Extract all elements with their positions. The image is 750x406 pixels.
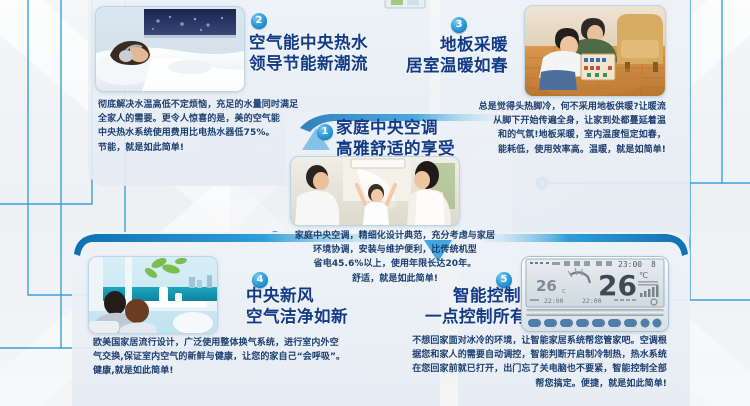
svg-text:8: 8: [651, 260, 656, 269]
section-2-body-line: 彻底解决水温高低不定烦恼，充足的水量同时满足: [98, 98, 338, 112]
section-2-heading-line1: 空气能中央热水: [249, 32, 368, 53]
section-4-body-line: 健康,就是如此简单!: [93, 364, 393, 378]
section-4-body-line: 气交换,保证室内空气的新鲜与健康，让您的家自己“会呼吸”。: [93, 350, 393, 364]
section-3-body-line: 从脚下开始传遍全身，让家到处都蔓延着温: [418, 114, 666, 128]
section-1-heading-line1: 家庭中央空调: [336, 117, 455, 138]
section-1-body-line: 舒适，就是如此简单!: [281, 272, 509, 286]
section-3-number-badge: 3: [451, 17, 467, 33]
section-5-body: 不想回家面对冰冷的环境，让智能家居系统帮您管家吧。空调根 据您和家人的需要自动调…: [388, 334, 667, 391]
section-5-body-line: 帮您搞定。便捷，就是如此简单!: [388, 377, 667, 391]
thermostat-main-temp: 26: [598, 269, 637, 302]
building-thumbnail-fragment: [383, 0, 427, 12]
section-3-body: 总是觉得头热脚冷，何不采用地板供暖?让暖流 从脚下开始传遍全身，让家到处都蔓延着…: [418, 100, 666, 157]
section-1-body: 家庭中央空调，精细化设计典范，充分考虑与家居 环境协调，安装与维护便利，比传统机…: [281, 229, 509, 286]
section-2-number-badge: 2: [251, 13, 267, 29]
section-2-body: 彻底解决水温高低不定烦恼，充足的水量同时满足 全家人的需要。更令人惊喜的是，美的…: [98, 98, 338, 155]
section-2-heading: 空气能中央热水 领导节能新潮流: [249, 32, 368, 74]
section-2-body-line: 中央热水系统使用费用比电热水器低75%。: [98, 126, 338, 140]
section-4-body-line: 欧美国家居流行设计，广泛使用整体换气系统，进行室内外空: [93, 336, 393, 350]
section-3-body-line: 总是觉得头热脚冷，何不采用地板供暖?让暖流: [418, 100, 666, 114]
section-4-heading-line2: 空气洁净如新: [246, 306, 348, 327]
section-3-body-line: 能耗低，使用效率高。温暖，就是如简单!: [418, 143, 666, 157]
section-3-heading-line1: 地板采暖: [390, 34, 508, 55]
section-5-body-line: 不想回家面对冰冷的环境，让智能家居系统帮您管家吧。空调根: [388, 334, 667, 348]
section-1-heading: 家庭中央空调 高雅舒适的享受: [336, 117, 455, 159]
section-3-heading: 地板采暖 居室温暖如春: [390, 34, 508, 76]
section-2-body-line: 全家人的需要。更令人惊喜的是，美的空气能: [98, 112, 338, 126]
couple-seaview-photo: [88, 256, 218, 334]
section-1-body-line: 家庭中央空调，精细化设计典范，充分考虑与家居: [281, 229, 509, 243]
section-4-heading-line1: 中央新风: [246, 285, 348, 306]
smart-thermostat-photo: 23:00 8 26 c 26 ℃ 22:00 22:00: [521, 256, 669, 332]
section-2-body-line: 节能，就是如此简单!: [98, 141, 338, 155]
svg-text:22:00: 22:00: [582, 297, 602, 305]
svg-text:c: c: [562, 287, 566, 295]
section-3-heading-line2: 居室温暖如春: [390, 55, 508, 76]
section-1-body-line: 省电45.6%以上，使用年限长达20年。: [281, 257, 509, 271]
family-indoor-ac-photo: [290, 156, 460, 226]
section-3-body-line: 和的气氛!地板采暖，室内温度恒定如春，: [418, 128, 666, 142]
woman-bathtub-photo: [95, 6, 245, 92]
svg-text:22:00: 22:00: [544, 297, 564, 305]
section-2-heading-line2: 领导节能新潮流: [249, 53, 368, 74]
section-1-number-badge: 1: [317, 124, 333, 140]
section-5-body-line: 据您和家人的需要自动调控，智能判断开启制冷制热，热水系统: [388, 348, 667, 362]
section-5-heading-line1: 智能控制: [425, 285, 521, 306]
section-1-body-line: 环境协调，安装与维护便利，比传统机型: [281, 243, 509, 257]
children-playing-floor-photo: [524, 5, 666, 97]
section-4-body: 欧美国家居流行设计，广泛使用整体换气系统，进行室内外空 气交换,保证室内空气的新…: [93, 336, 393, 379]
infographic-stage: 2 空气能中央热水 领导节能新潮流 彻底解决水温高低不定烦恼，充足的水量同时满足…: [0, 0, 750, 406]
section-4-heading: 中央新风 空气洁净如新: [246, 285, 348, 327]
section-5-heading-line2: 一点控制所有: [425, 306, 521, 327]
section-5-body-line: 在您回家前就已打开，出门忘了关电脑也不要紧，智能控制全部: [388, 362, 667, 376]
thermostat-clock-text: 23:00: [618, 260, 642, 269]
thermostat-secondary-temp: 26: [536, 277, 557, 295]
section-5-heading: 智能控制 一点控制所有: [425, 285, 521, 327]
thermostat-main-unit: ℃: [639, 271, 648, 280]
